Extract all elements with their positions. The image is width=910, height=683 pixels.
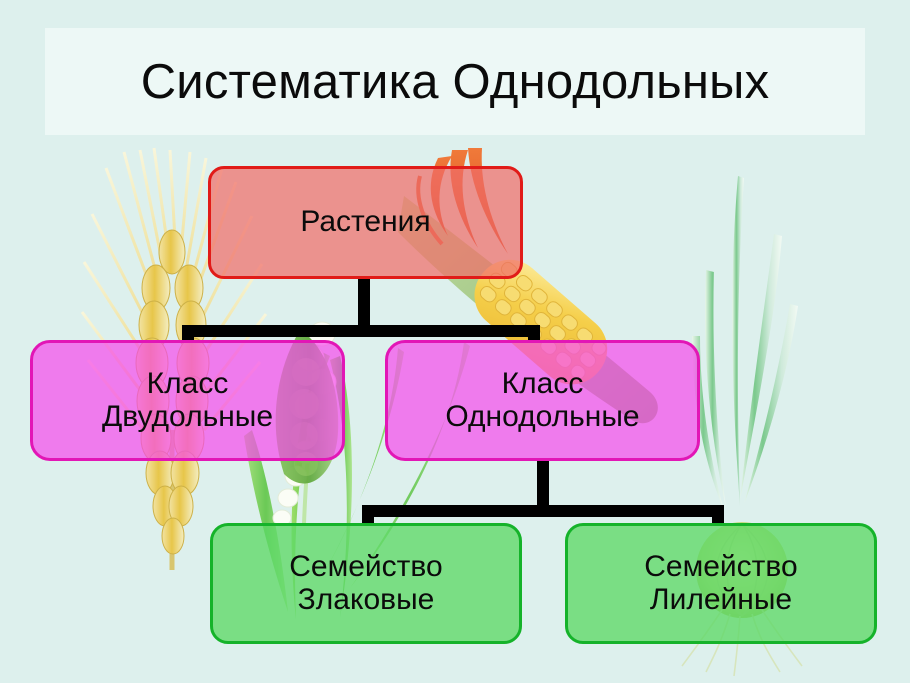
node-klass-dvudolnye-line-2: Двудольные — [102, 401, 273, 433]
node-klass-odnodolnye-line-1: Класс — [502, 368, 584, 400]
node-semeystvo-lileynye-line-2: Лилейные — [650, 584, 792, 616]
node-klass-dvudolnye[interactable]: Класс Двудольные — [30, 340, 345, 461]
node-semeystvo-zlakovye[interactable]: Семейство Злаковые — [210, 523, 522, 644]
node-klass-odnodolnye[interactable]: Класс Однодольные — [385, 340, 700, 461]
node-klass-dvudolnye-line-1: Класс — [147, 368, 229, 400]
slide-canvas: Систематика Однодольных Растения Класс — [0, 0, 910, 683]
node-klass-odnodolnye-line-2: Однодольные — [445, 401, 639, 433]
node-semeystvo-zlakovye-line-2: Злаковые — [298, 584, 435, 616]
node-rasteniya[interactable]: Растения — [208, 166, 523, 279]
edge-root-to-classes — [182, 279, 540, 343]
node-semeystvo-lileynye[interactable]: Семейство Лилейные — [565, 523, 877, 644]
title-banner: Систематика Однодольных — [45, 28, 865, 135]
page-title: Систематика Однодольных — [141, 54, 770, 110]
edge-monocot-to-families — [362, 461, 724, 525]
node-semeystvo-zlakovye-line-1: Семейство — [289, 551, 442, 583]
node-semeystvo-lileynye-line-1: Семейство — [644, 551, 797, 583]
node-rasteniya-line-1: Растения — [300, 206, 430, 238]
